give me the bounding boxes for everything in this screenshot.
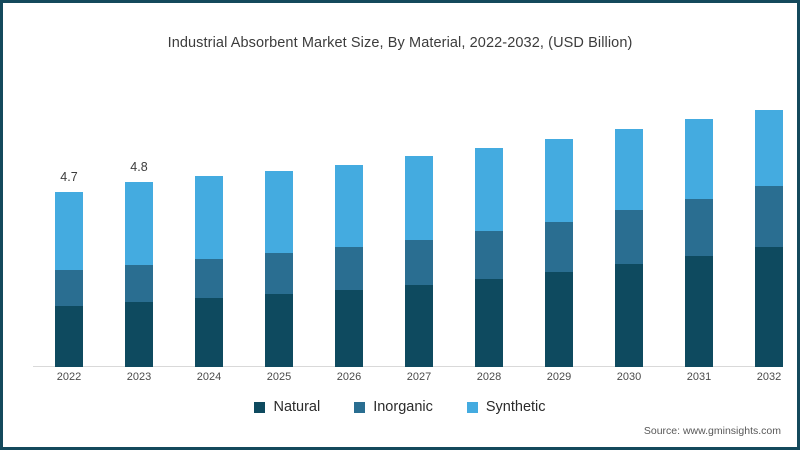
bar-segment-natural: [545, 272, 573, 367]
bar-segment-inorganic: [335, 247, 363, 290]
bar-segment-natural: [335, 290, 363, 367]
x-tick-2024: 2024: [181, 371, 237, 383]
legend-item-natural[interactable]: Natural: [254, 399, 320, 415]
bar-segment-synthetic: [55, 192, 83, 270]
bar-segment-synthetic: [685, 119, 713, 199]
bar-value-label: 4.7: [60, 170, 77, 184]
bar-group-2025: [265, 171, 293, 367]
legend-label: Synthetic: [486, 399, 546, 415]
x-tick-2030: 2030: [601, 371, 657, 383]
x-tick-2025: 2025: [251, 371, 307, 383]
bar-segment-natural: [405, 285, 433, 367]
bar-group-2032: [755, 110, 783, 367]
bar-group-2023: 4.8: [125, 182, 153, 367]
bar-segment-natural: [195, 298, 223, 367]
plot-area: 4.74.8: [33, 73, 773, 368]
bar-group-2030: [615, 129, 643, 367]
bar-segment-synthetic: [335, 165, 363, 247]
bar-segment-inorganic: [125, 265, 153, 302]
legend-swatch-icon: [354, 402, 365, 413]
bar-segment-natural: [615, 264, 643, 367]
chart-canvas: Industrial Absorbent Market Size, By Mat…: [3, 3, 797, 447]
bar-segment-inorganic: [265, 253, 293, 294]
legend-swatch-icon: [254, 402, 265, 413]
bar-segment-synthetic: [755, 110, 783, 186]
bar-segment-natural: [265, 294, 293, 367]
bar-group-2026: [335, 165, 363, 367]
bar-value-label: 4.8: [130, 160, 147, 174]
chart-legend: NaturalInorganicSynthetic: [3, 399, 797, 415]
bar-segment-synthetic: [195, 176, 223, 259]
bar-segment-inorganic: [685, 199, 713, 256]
bar-segment-synthetic: [545, 139, 573, 222]
x-tick-2022: 2022: [41, 371, 97, 383]
bar-segment-synthetic: [615, 129, 643, 210]
legend-item-synthetic[interactable]: Synthetic: [467, 399, 546, 415]
x-tick-2026: 2026: [321, 371, 377, 383]
x-tick-2028: 2028: [461, 371, 517, 383]
bar-segment-inorganic: [405, 240, 433, 285]
bar-segment-inorganic: [195, 259, 223, 298]
bar-segment-natural: [55, 306, 83, 367]
bar-segment-inorganic: [55, 270, 83, 306]
chart-image-frame: Industrial Absorbent Market Size, By Mat…: [0, 0, 800, 450]
bar-segment-natural: [475, 279, 503, 367]
bar-segment-synthetic: [405, 156, 433, 240]
bar-group-2022: 4.7: [55, 192, 83, 367]
x-tick-2031: 2031: [671, 371, 727, 383]
x-tick-2029: 2029: [531, 371, 587, 383]
source-attribution: Source: www.gminsights.com: [644, 425, 781, 437]
bar-segment-inorganic: [615, 210, 643, 264]
legend-label: Natural: [273, 399, 320, 415]
bar-segment-synthetic: [265, 171, 293, 253]
bar-group-2024: [195, 176, 223, 367]
bar-group-2027: [405, 156, 433, 367]
bar-segment-natural: [685, 256, 713, 367]
bar-segment-synthetic: [125, 182, 153, 265]
bar-segment-natural: [755, 247, 783, 367]
x-tick-2027: 2027: [391, 371, 447, 383]
bar-segment-inorganic: [755, 186, 783, 247]
bar-group-2028: [475, 148, 503, 367]
bar-segment-synthetic: [475, 148, 503, 231]
bar-segment-natural: [125, 302, 153, 367]
x-tick-2032: 2032: [741, 371, 797, 383]
legend-label: Inorganic: [373, 399, 433, 415]
bar-segment-inorganic: [545, 222, 573, 272]
x-tick-2023: 2023: [111, 371, 167, 383]
legend-swatch-icon: [467, 402, 478, 413]
page-title: Industrial Absorbent Market Size, By Mat…: [3, 35, 797, 51]
x-axis-tick-labels: 2022202320242025202620272028202920302031…: [33, 371, 773, 389]
bar-segment-inorganic: [475, 231, 503, 279]
legend-item-inorganic[interactable]: Inorganic: [354, 399, 433, 415]
bar-group-2029: [545, 139, 573, 367]
bar-group-2031: [685, 119, 713, 367]
